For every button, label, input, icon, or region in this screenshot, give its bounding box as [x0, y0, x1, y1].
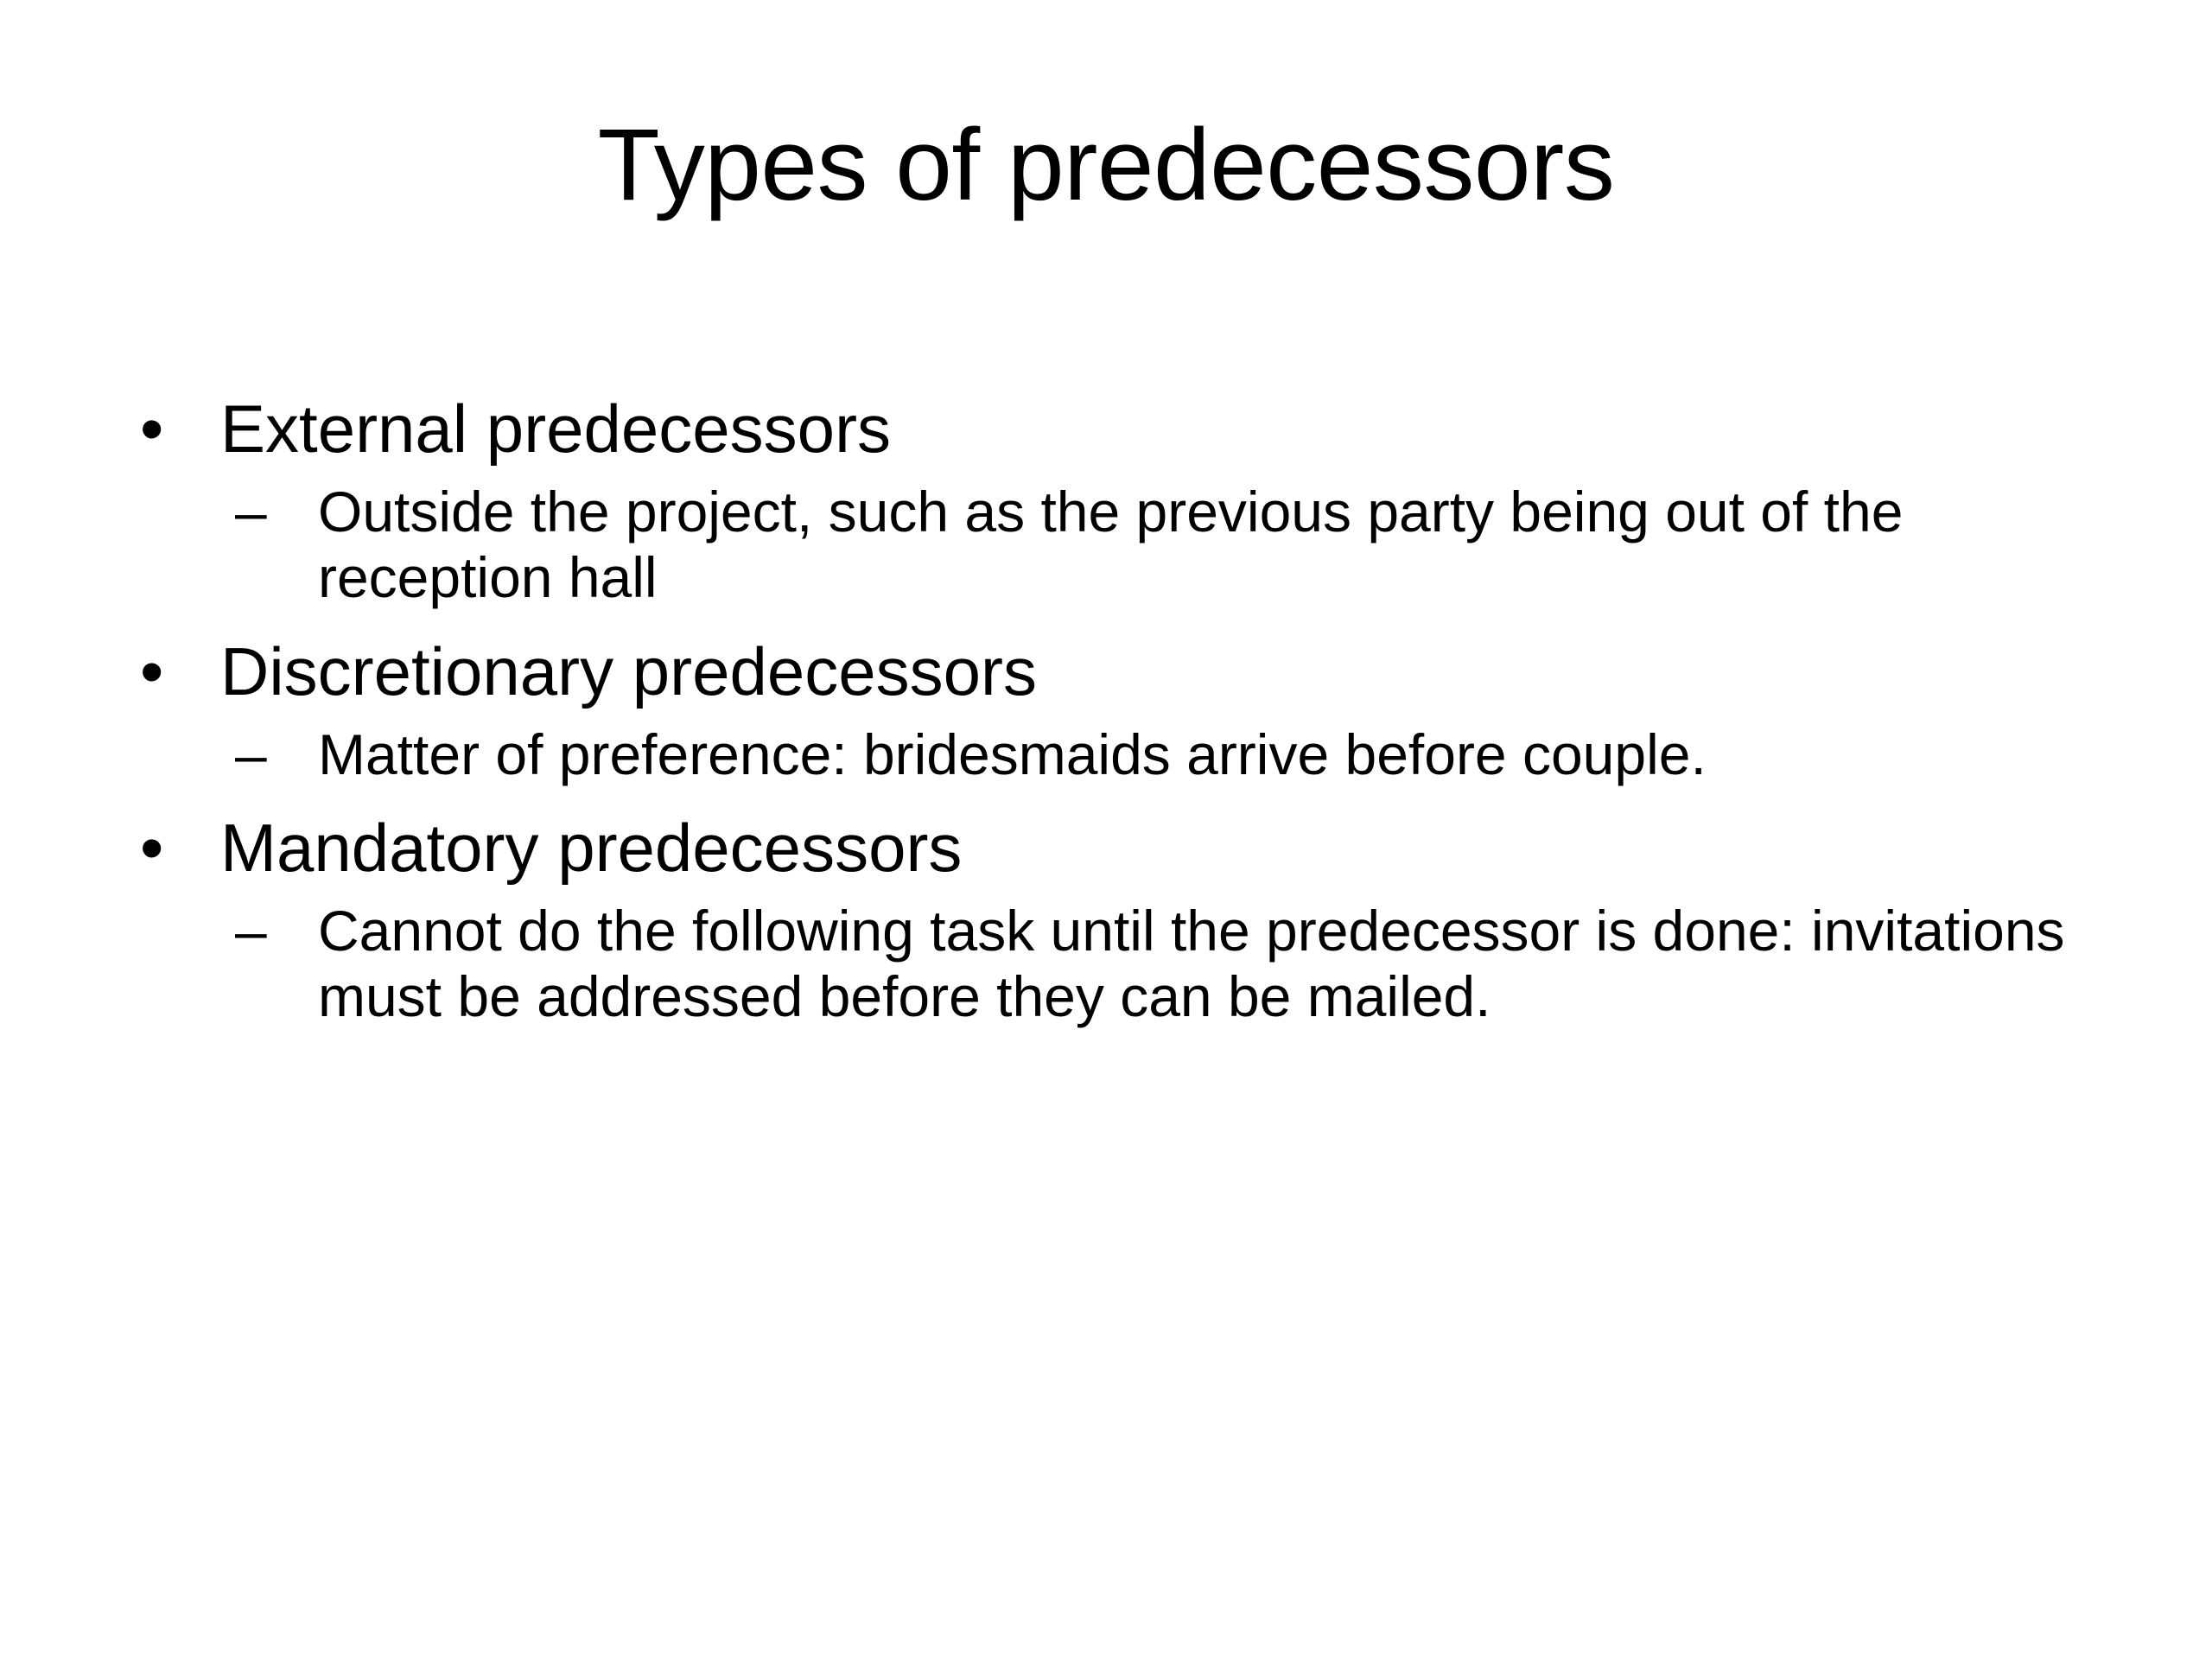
bullet-group: • Mandatory predecessors – Cannot do the… — [130, 810, 2074, 1030]
bullet-item-level2-label: Cannot do the following task until the p… — [318, 899, 2074, 1030]
bullet-item-level1: • External predecessors — [130, 391, 2074, 467]
bullet-dash-icon: – — [235, 899, 304, 964]
bullet-dash-icon: – — [235, 480, 304, 545]
presentation-slide: Types of predecessors • External predece… — [0, 0, 2212, 1659]
bullet-item-level1-label: Mandatory predecessors — [220, 810, 2074, 887]
bullet-dot-icon: • — [140, 633, 192, 710]
bullet-item-level2-label: Outside the project, such as the previou… — [318, 480, 2074, 611]
bullet-group: • External predecessors – Outside the pr… — [130, 391, 2074, 611]
bullet-dot-icon: • — [140, 810, 192, 887]
slide-title: Types of predecessors — [111, 111, 2101, 220]
bullet-dot-icon: • — [140, 391, 192, 467]
bullet-item-level2: – Outside the project, such as the previ… — [130, 480, 2074, 611]
bullet-item-level1: • Mandatory predecessors — [130, 810, 2074, 887]
bullet-item-level2: – Cannot do the following task until the… — [130, 899, 2074, 1030]
bullet-item-level2-label: Matter of preference: bridesmaids arrive… — [318, 722, 2074, 788]
bullet-dash-icon: – — [235, 722, 304, 788]
bullet-item-level1-label: Discretionary predecessors — [220, 633, 2074, 710]
bullet-item-level1: • Discretionary predecessors — [130, 633, 2074, 710]
bullet-group: • Discretionary predecessors – Matter of… — [130, 633, 2074, 788]
slide-body-content: • External predecessors – Outside the pr… — [130, 391, 2074, 1044]
bullet-item-level1-label: External predecessors — [220, 391, 2074, 467]
bullet-item-level2: – Matter of preference: bridesmaids arri… — [130, 722, 2074, 788]
